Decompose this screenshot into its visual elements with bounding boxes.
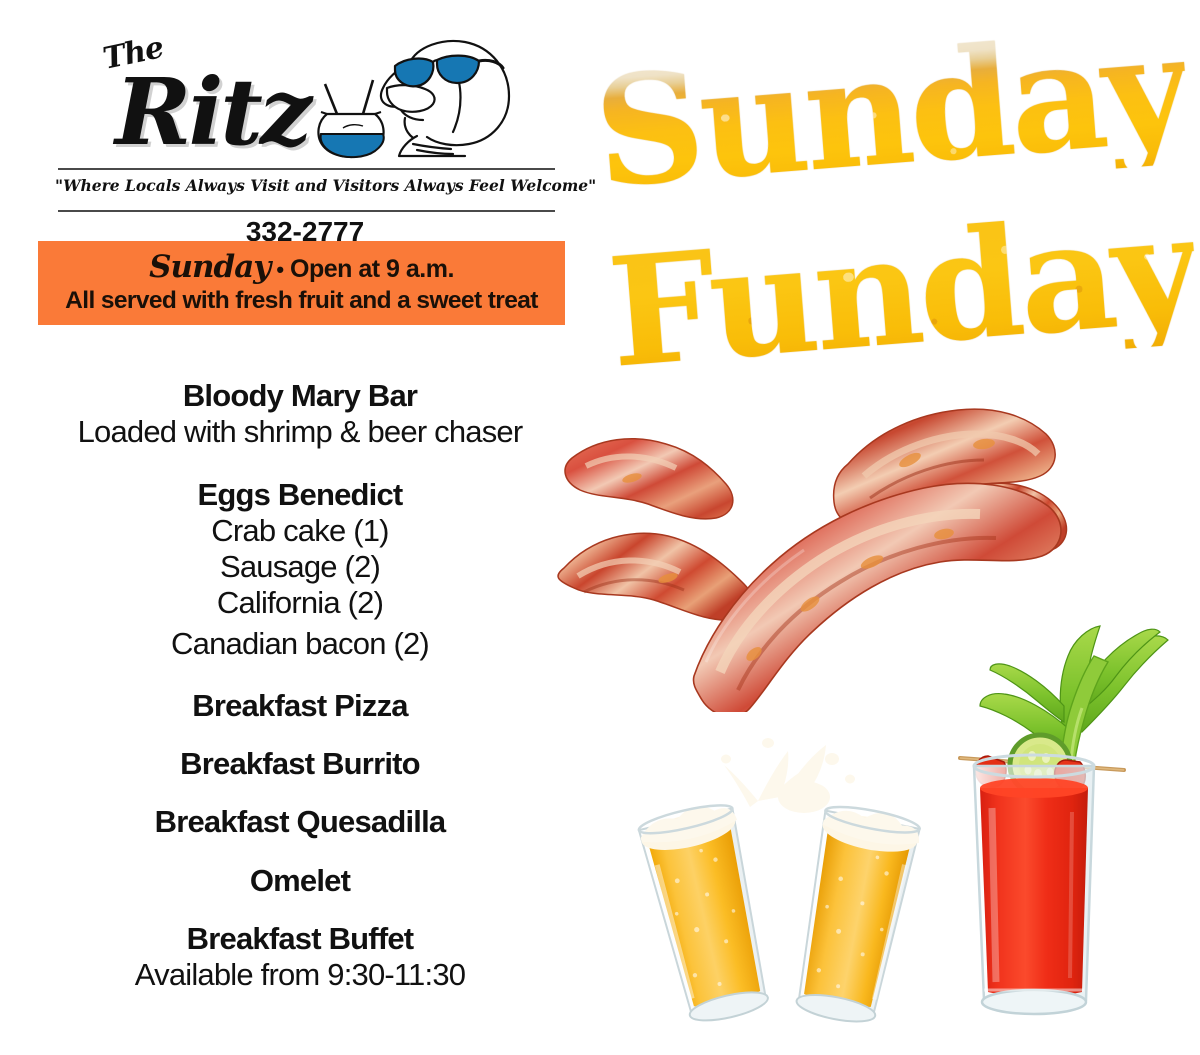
promo-banner: Sunday • Open at 9 a.m. All served with …: [38, 241, 565, 325]
menu-subtitle-breakfast-buffet: Available from 9:30-11:30: [0, 957, 600, 993]
spacer: [0, 724, 600, 746]
two-clinking-beer-glasses-photo: [618, 735, 948, 1055]
promo-note: All served with fresh fruit and a sweet …: [65, 287, 538, 315]
title-line-funday: Funday: [604, 193, 1200, 389]
page-title: Sunday Funday: [585, 30, 1200, 395]
spacer: [0, 451, 600, 477]
promo-hours-line: Sunday • Open at 9 a.m.: [149, 252, 454, 283]
menu-heading-breakfast-quesadilla: Breakfast Quesadilla: [0, 804, 600, 840]
promo-bullet-icon: •: [276, 259, 284, 281]
promo-open-time: Open at 9 a.m.: [290, 257, 454, 282]
menu-heading-breakfast-pizza: Breakfast Pizza: [0, 688, 600, 724]
bloody-mary-cocktail-photo: [948, 598, 1200, 1023]
spacer: [0, 899, 600, 921]
menu-option-crab-cake: Crab cake (1): [0, 513, 600, 549]
menu-heading-breakfast-burrito: Breakfast Burrito: [0, 746, 600, 782]
promo-day-label: Sunday: [149, 252, 270, 283]
restaurant-logo: The Ritz: [55, 28, 555, 228]
menu-heading-bloody-mary-bar: Bloody Mary Bar: [0, 378, 600, 414]
menu-option-sausage: Sausage (2): [0, 549, 600, 585]
spacer: [0, 782, 600, 804]
menu-option-canadian-bacon: Canadian bacon (2): [0, 626, 600, 662]
logo-divider-top: [58, 168, 555, 170]
logo-restaurant-name: Ritz: [115, 58, 309, 166]
menu-option-california: California (2): [0, 585, 600, 621]
menu-heading-breakfast-buffet: Breakfast Buffet: [0, 921, 600, 957]
logo-tagline: "Where Locals Always Visit and Visitors …: [55, 176, 555, 195]
menu-list: Bloody Mary Bar Loaded with shrimp & bee…: [0, 378, 600, 993]
sunglasses-fish-with-fishbowl-icon: [313, 36, 523, 176]
menu-heading-omelet: Omelet: [0, 863, 600, 899]
spacer: [0, 841, 600, 863]
menu-heading-eggs-benedict: Eggs Benedict: [0, 477, 600, 513]
spacer: [0, 662, 600, 688]
menu-subtitle-bloody-mary-bar: Loaded with shrimp & beer chaser: [0, 414, 600, 450]
logo-divider-bottom: [58, 210, 555, 212]
title-line-sunday: Sunday: [590, 13, 1192, 209]
